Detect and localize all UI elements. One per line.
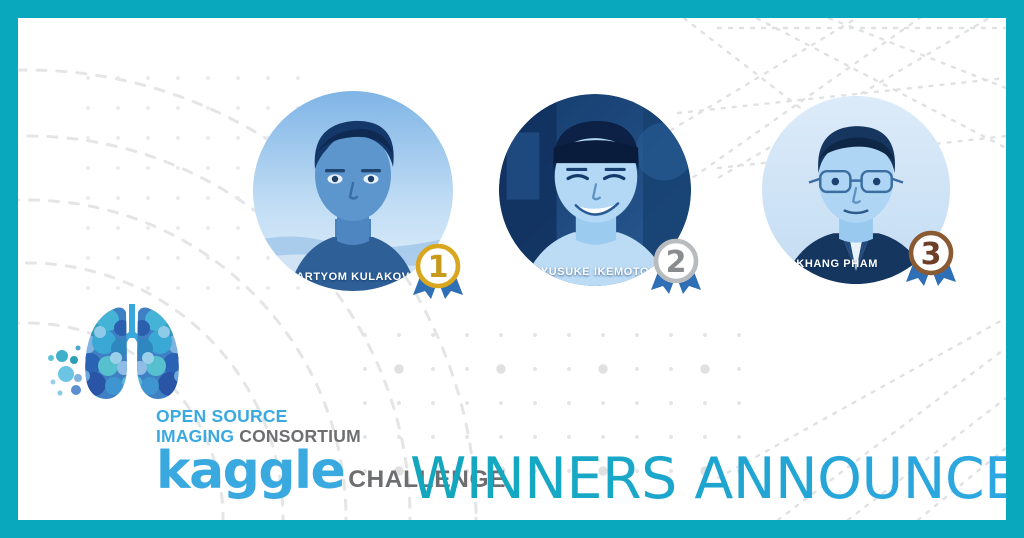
winner-card-3: KHANG PHAM 3: [762, 96, 950, 284]
logo-line-open-source: OPEN SOURCE: [156, 406, 396, 426]
osic-kaggle-logo: OPEN SOURCE IMAGING CONSORTIUM kaggle CH…: [46, 298, 386, 513]
svg-text:1: 1: [428, 250, 449, 285]
poster-canvas: ARTYOM KULAKOV 1: [18, 18, 1006, 520]
winners-announcement-poster: ARTYOM KULAKOV 1: [0, 0, 1024, 538]
logo-kaggle-text: kaggle: [156, 448, 344, 496]
logo-line-kaggle-challenge: kaggle CHALLENGE: [156, 448, 396, 496]
lungs-dots-icon: [46, 298, 216, 406]
winner-card-2: YUSUKE IKEMOTO 2: [499, 94, 691, 286]
winner-name-3: KHANG PHAM: [766, 258, 909, 270]
silver-medal-icon: 2: [647, 234, 705, 296]
svg-text:2: 2: [666, 245, 687, 280]
gold-medal-icon: 1: [409, 239, 467, 301]
bronze-medal-icon: 3: [902, 226, 960, 288]
headline-winners-announced: WINNERS ANNOUNCED: [410, 446, 1006, 512]
svg-text:3: 3: [921, 237, 942, 272]
logo-wordmark: OPEN SOURCE IMAGING CONSORTIUM kaggle CH…: [156, 406, 396, 496]
logo-open-source-text: OPEN SOURCE: [156, 406, 288, 426]
winner-card-1: ARTYOM KULAKOV 1: [253, 91, 453, 291]
